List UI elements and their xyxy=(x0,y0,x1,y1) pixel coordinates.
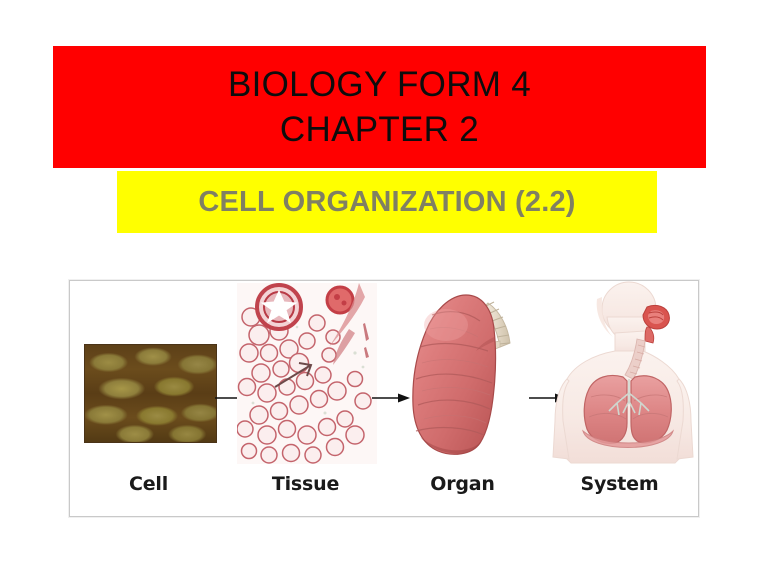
stage-label-cell: Cell xyxy=(70,464,227,516)
title-banner: BIOLOGY FORM 4 CHAPTER 2 xyxy=(53,46,706,168)
cell-micrograph-image xyxy=(84,344,217,443)
panel-system xyxy=(541,281,698,464)
title-line-1: BIOLOGY FORM 4 xyxy=(228,62,531,108)
cell-organization-figure: Cell Tissue Organ System xyxy=(69,280,699,517)
stage-labels-row: Cell Tissue Organ System xyxy=(70,464,698,516)
human-lung-organ-image xyxy=(396,285,536,461)
subtitle-banner: CELL ORGANIZATION (2.2) xyxy=(117,171,657,233)
stage-label-tissue: Tissue xyxy=(227,464,384,516)
panel-cell xyxy=(70,281,227,464)
human-respiratory-system-image xyxy=(549,281,697,464)
subtitle-text: CELL ORGANIZATION (2.2) xyxy=(198,186,575,219)
panel-organ xyxy=(384,281,541,464)
title-line-2: CHAPTER 2 xyxy=(280,107,479,153)
stage-label-organ: Organ xyxy=(384,464,541,516)
lung-tissue-histology-image xyxy=(237,283,377,464)
stage-label-system: System xyxy=(541,464,698,516)
diagram-panels xyxy=(70,281,698,464)
panel-tissue xyxy=(227,281,384,464)
